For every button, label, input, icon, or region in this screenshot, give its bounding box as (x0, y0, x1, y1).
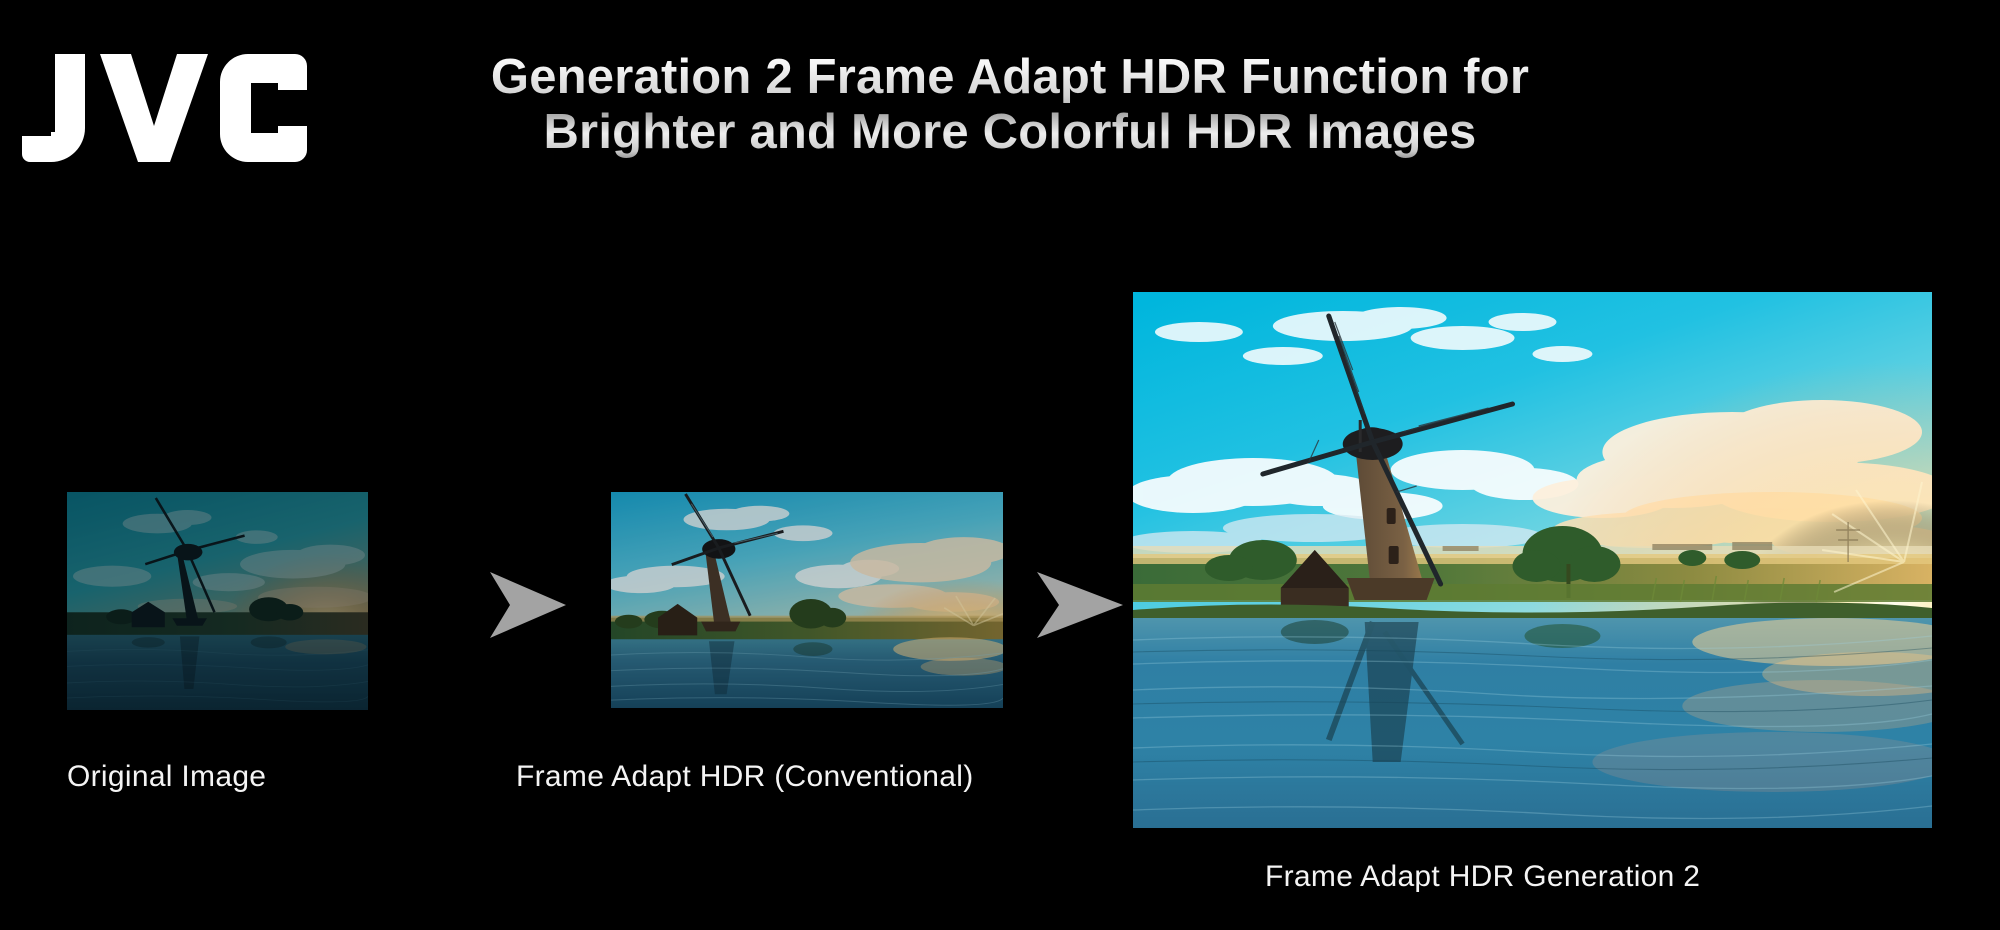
caption-generation-2: Frame Adapt HDR Generation 2 (1265, 860, 1700, 894)
page-title: Generation 2 Frame Adapt HDR Function fo… (330, 50, 1690, 160)
image-conventional (611, 492, 1003, 708)
caption-conventional: Frame Adapt HDR (Conventional) (516, 760, 974, 794)
caption-original: Original Image (67, 760, 266, 794)
right-arrow-icon (1035, 568, 1123, 642)
image-generation-2 (1133, 292, 1932, 828)
right-arrow-icon (488, 568, 566, 642)
jvc-wordmark-logo (22, 48, 307, 168)
slide-canvas: Generation 2 Frame Adapt HDR Function fo… (0, 0, 2000, 930)
image-original (67, 492, 368, 710)
